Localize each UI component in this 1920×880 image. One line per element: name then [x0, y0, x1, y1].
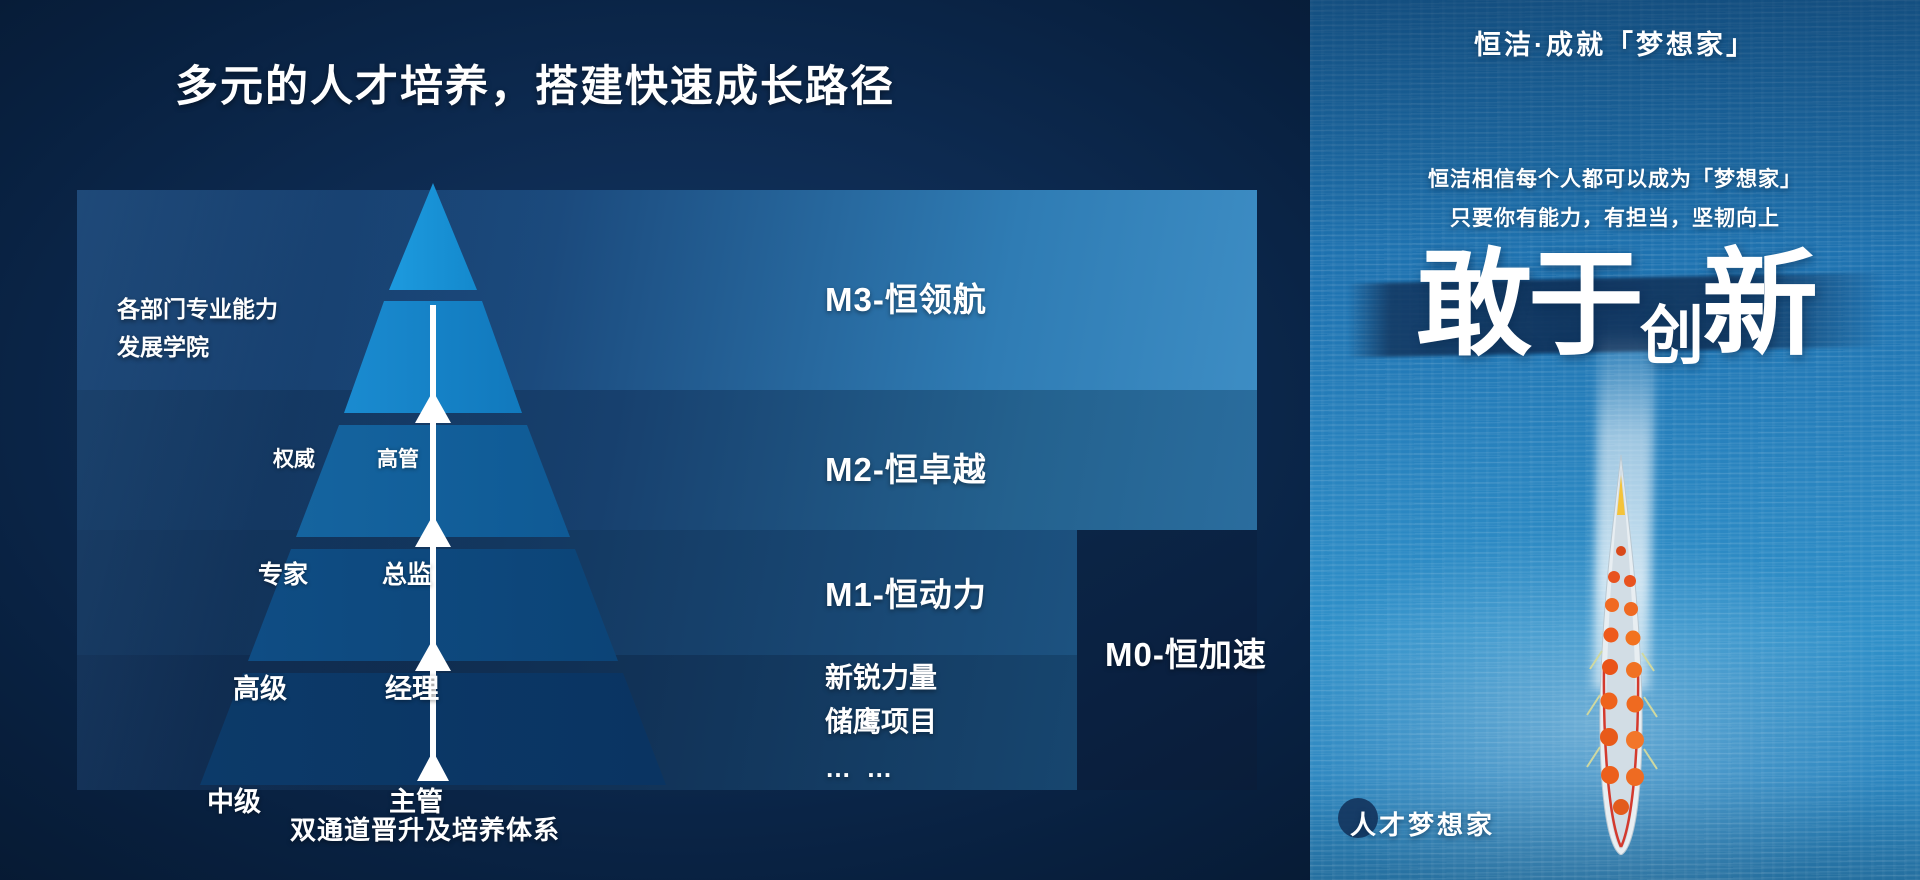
level-label-m2: M2-恒卓越	[825, 443, 987, 491]
pyramid-label-intermediate: 中级	[207, 780, 261, 819]
pyramid-label-authority: 权威	[273, 443, 315, 473]
career-ladder-panel: 各部门专业能力 发展学院 M3-恒领航 M2-恒卓越 M1-恒动力 M0-恒加速…	[77, 190, 1257, 790]
poster-subtitle-line2: 只要你有能力，有担当，坚韧向上	[1310, 199, 1920, 238]
program-ellipsis: … …	[825, 746, 937, 790]
program-list: 新锐力量 储鹰项目 … …	[825, 656, 937, 790]
poster-subtitle-line1: 恒洁相信每个人都可以成为「梦想家」	[1310, 160, 1920, 199]
level-label-m0: M0-恒加速	[1105, 628, 1267, 676]
dragon-boat	[1578, 455, 1664, 855]
poster-subtitle: 恒洁相信每个人都可以成为「梦想家」 只要你有能力，有担当，坚韧向上	[1310, 160, 1920, 238]
program-item-2: 储鹰项目	[825, 700, 937, 744]
pyramid-label-expert: 专家	[258, 555, 308, 591]
boat-inner	[1606, 461, 1636, 849]
slide-canvas: 多元的人才培养，搭建快速成长路径 各部门专业能力 发展学院 M3-恒领航 M2-…	[0, 0, 1920, 880]
pyramid-label-executive: 高管	[377, 443, 419, 473]
pyramid-label-manager: 经理	[385, 667, 439, 706]
diagram-caption: 双通道晋升及培养体系	[290, 810, 560, 847]
page-title: 多元的人才培养，搭建快速成长路径	[0, 52, 1070, 114]
calligraphy-part-3: 新	[1702, 236, 1814, 372]
dragon-boat-svg	[1578, 455, 1664, 855]
pyramid-label-senior: 高级	[233, 667, 287, 706]
poster-pane: 恒洁·成就「梦想家」 恒洁相信每个人都可以成为「梦想家」 只要你有能力，有担当，…	[1310, 0, 1920, 880]
program-item-1: 新锐力量	[825, 656, 937, 700]
level-label-m1: M1-恒动力	[825, 568, 987, 616]
poster-footer-text: 人才梦想家	[1350, 805, 1495, 842]
left-slide-pane: 多元的人才培养，搭建快速成长路径 各部门专业能力 发展学院 M3-恒领航 M2-…	[0, 0, 1310, 880]
pyramid-tier-tip	[389, 183, 477, 290]
pyramid-label-director: 总监	[382, 555, 432, 591]
level-label-m3: M3-恒领航	[825, 273, 987, 321]
poster-title: 恒洁·成就「梦想家」	[1310, 23, 1920, 62]
